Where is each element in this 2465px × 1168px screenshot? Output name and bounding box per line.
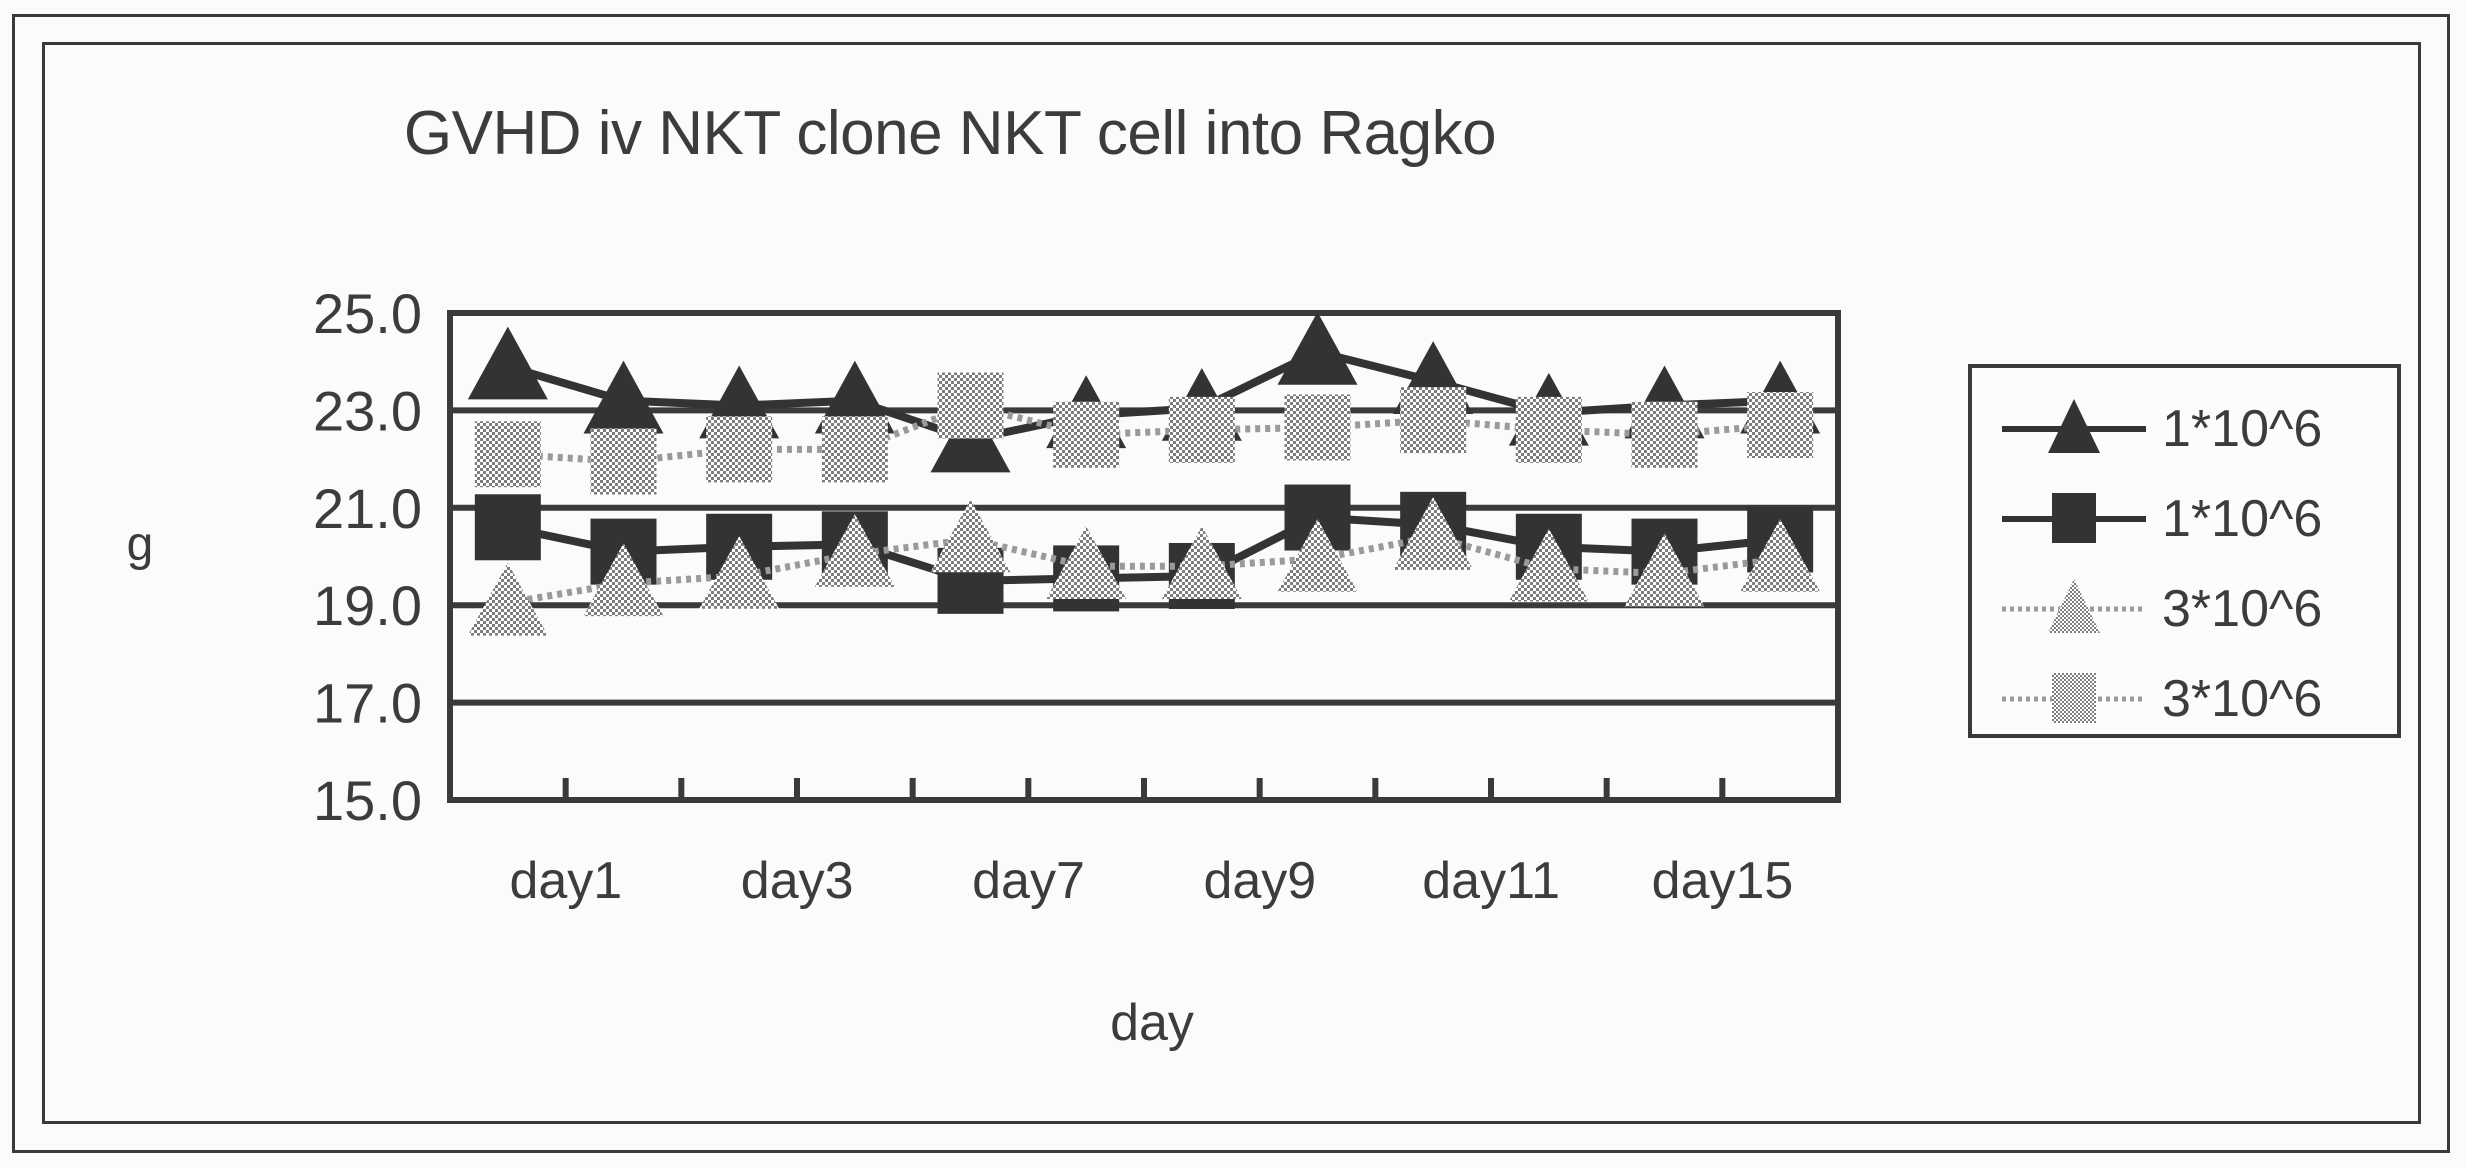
- y-tick-label: 17.0: [313, 672, 422, 735]
- legend-marker-triangle-icon: [2000, 569, 2148, 649]
- legend-label-3: 3*10^6: [2162, 669, 2322, 729]
- series-line: [508, 352, 1780, 440]
- y-tick-label: 25.0: [313, 282, 422, 345]
- data-point-marker: [1278, 312, 1358, 385]
- data-point-marker: [584, 361, 664, 434]
- data-point-marker: [938, 373, 1004, 439]
- legend-marker-square-icon: [2000, 479, 2148, 559]
- legend-label-1: 1*10^6: [2162, 489, 2322, 549]
- x-tick-label: day1: [509, 852, 622, 910]
- x-tick-label: day11: [1422, 852, 1560, 910]
- y-tick-label: 21.0: [313, 477, 422, 540]
- plot-frame: [450, 313, 1838, 800]
- y-tick-label: 19.0: [313, 574, 422, 637]
- legend-item-1[interactable]: 1*10^6: [1972, 472, 2397, 566]
- y-axis-title: g: [127, 518, 154, 571]
- y-tick-label: 23.0: [313, 379, 422, 442]
- legend-item-0[interactable]: 1*10^6: [1972, 382, 2397, 476]
- series-line: [508, 518, 1780, 581]
- data-point-marker: [1285, 394, 1351, 460]
- chart-legend: 1*10^61*10^63*10^63*10^6: [1968, 364, 2401, 738]
- data-point-marker: [822, 416, 888, 482]
- x-tick-label: day9: [1203, 852, 1316, 910]
- data-point-marker: [1400, 387, 1466, 453]
- data-point-marker: [475, 421, 541, 487]
- data-point-marker: [706, 416, 772, 482]
- x-tick-label: day7: [972, 852, 1085, 910]
- x-axis-title: day: [1110, 994, 1194, 1052]
- legend-label-0: 1*10^6: [2162, 399, 2322, 459]
- data-point-marker: [475, 494, 541, 560]
- data-point-marker: [591, 429, 657, 495]
- data-point-marker: [468, 327, 548, 400]
- data-point-marker: [1053, 402, 1119, 468]
- legend-item-3[interactable]: 3*10^6: [1972, 652, 2397, 746]
- legend-marker-triangle-icon: [2000, 389, 2148, 469]
- data-point-marker: [468, 563, 548, 636]
- legend-label-2: 3*10^6: [2162, 579, 2322, 639]
- chart-series-3: [475, 373, 1813, 495]
- legend-item-2[interactable]: 3*10^6: [1972, 562, 2397, 656]
- data-point-marker: [1632, 402, 1698, 468]
- x-tick-label: day15: [1652, 852, 1794, 910]
- y-tick-label: 15.0: [313, 769, 422, 832]
- x-tick-label: day3: [741, 852, 854, 910]
- data-point-marker: [1169, 397, 1235, 463]
- data-point-marker: [1747, 392, 1813, 458]
- chart-series-1: [475, 485, 1813, 614]
- legend-marker-square-icon: [2000, 659, 2148, 739]
- chart-series-0: [468, 312, 1820, 472]
- chart-series-2: [468, 497, 1820, 636]
- data-point-marker: [1516, 397, 1582, 463]
- chart-page: GVHD iv NKT clone NKT cell into Ragko 25…: [0, 0, 2465, 1168]
